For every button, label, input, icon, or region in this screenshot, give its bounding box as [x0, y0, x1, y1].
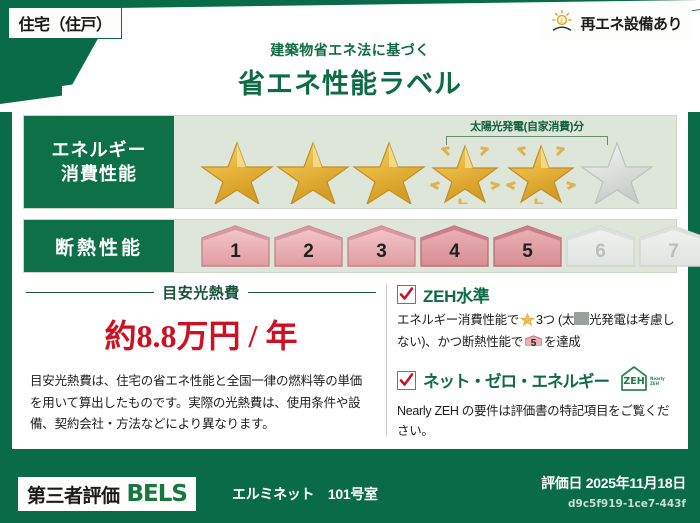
insulation-badge-inline: 5 — [525, 332, 542, 349]
claim-text-part1: エネルギー消費性能で — [397, 313, 519, 327]
claim-text-part4: を達成 — [544, 335, 581, 349]
star-icon — [200, 134, 274, 204]
star-icon — [276, 134, 350, 204]
label-title-block: 建築物省エネ法に基づく 省エネ性能ラベル — [0, 40, 700, 101]
solar-annotation-bracket — [446, 136, 608, 145]
insulation-badge-value: 1 — [200, 241, 271, 263]
energy-performance-row: エネルギー 消費性能 太陽光発電(自家消費)分 — [23, 115, 677, 209]
claim-net-zero-energy-title: ネット・ゼロ・エネルギー — [423, 368, 609, 392]
svg-text:ZEH: ZEH — [623, 376, 644, 387]
energy-label-line2: 消費性能 — [61, 162, 137, 186]
insulation-performance-row: 断熱性能 — [23, 219, 677, 273]
star-icon — [520, 315, 535, 329]
energy-performance-label-box: エネルギー 消費性能 — [24, 116, 174, 208]
insulation-badge-value: 3 — [346, 241, 417, 263]
claim-net-zero-energy-head: ネット・ゼロ・エネルギー ZEH Nearly ZEH — [397, 363, 679, 398]
insulation-badge: 2 — [273, 224, 344, 268]
insulation-badge: 5 — [492, 224, 563, 268]
certificate-uid: d9c5f919-1ce7-443f — [568, 498, 686, 510]
claim-text-part2: 3つ (太 — [536, 313, 574, 327]
insulation-badge: 4 — [419, 224, 490, 268]
building-type-tag: 住宅（住戸） — [8, 7, 122, 39]
insulation-performance-label-box: 断熱性能 — [24, 220, 174, 272]
redacted-mask — [574, 312, 589, 325]
utility-cost-description: 目安光熱費は、住宅の省エネ性能と全国一律の燃料等の単価を用いて算出したものです。… — [26, 371, 376, 436]
energy-label-line1: エネルギー — [52, 138, 147, 162]
zeh-nearly-logo-icon: ZEH Nearly ZEH — [619, 363, 667, 398]
star-icon — [352, 134, 426, 204]
insulation-rating-area: 1 2 3 — [174, 220, 676, 272]
building-name: エルミネット 101号室 — [232, 484, 378, 504]
renewable-energy-badge: E 再エネ設備あり — [542, 5, 692, 41]
insulation-badge-empty: 7 — [638, 224, 700, 268]
insulation-badge-value: 5 — [492, 241, 563, 263]
insulation-badge-value: 2 — [273, 241, 344, 263]
renewable-badge-label: 再エネ設備あり — [580, 13, 682, 34]
solar-annotation-caption: 太陽光発電(自家消費)分 — [432, 118, 622, 134]
insulation-badge-empty: 6 — [565, 224, 636, 268]
claim-zeh-standard-head: ZEH水準 — [397, 282, 679, 307]
bels-third-party-badge: 第三者評価 BELS — [18, 477, 196, 511]
insulation-badge-inline-value: 5 — [525, 336, 542, 352]
insulation-badge-value: 6 — [565, 241, 636, 263]
insulation-label: 断熱性能 — [55, 233, 143, 260]
bels-badge-en: BELS — [127, 481, 187, 507]
solar-sun-icon: E — [550, 9, 574, 38]
insulation-badge-group: 1 2 3 — [200, 224, 700, 268]
insulation-badge: 3 — [346, 224, 417, 268]
insulation-badge: 1 — [200, 224, 271, 268]
vertical-divider — [386, 284, 387, 436]
insulation-badge-value: 4 — [419, 241, 490, 263]
energy-performance-label: 住宅（住戸） E 再エネ設備あり 建築物省エネ法に基づく 省エネ性能ラベル — [0, 0, 700, 523]
claim-net-zero-energy-body: Nearly ZEH の要件は評価書の特記項目をご覧ください。 — [397, 401, 679, 442]
checkbox-checked-icon[interactable] — [397, 371, 416, 390]
utility-cost-heading: 目安光熱費 — [162, 282, 240, 303]
svg-text:E: E — [561, 18, 565, 25]
checkbox-checked-icon[interactable] — [397, 285, 416, 304]
claim-zeh-standard-title: ZEH水準 — [423, 282, 490, 307]
svg-text:ZEH: ZEH — [650, 381, 659, 386]
evaluation-date: 評価日 2025年11月18日 — [541, 473, 686, 493]
label-body-card: エネルギー 消費性能 太陽光発電(自家消費)分 — [12, 104, 688, 449]
utility-cost-value: 約8.8万円 / 年 — [26, 311, 376, 357]
solar-self-consumption-annotation: 太陽光発電(自家消費)分 — [432, 118, 622, 145]
claim-zeh-standard-body: エネルギー消費性能で3つ (太光発電は考慮しない)、かつ断熱性能で5を達成 — [397, 310, 679, 353]
claim-zeh-standard: ZEH水準 エネルギー消費性能で3つ (太光発電は考慮しない)、かつ断熱性能で5… — [397, 282, 679, 353]
bels-badge-jp: 第三者評価 — [27, 481, 120, 508]
claim-net-zero-energy: ネット・ゼロ・エネルギー ZEH Nearly ZEH Nearly ZEH の… — [397, 363, 679, 442]
label-title-sub: 建築物省エネ法に基づく — [0, 40, 700, 60]
insulation-badge-value: 7 — [638, 241, 700, 263]
energy-rating-area: 太陽光発電(自家消費)分 — [174, 116, 676, 208]
utility-cost-block: 目安光熱費 約8.8万円 / 年 目安光熱費は、住宅の省エネ性能と全国一律の燃料… — [26, 282, 376, 436]
rule-right — [248, 292, 376, 294]
utility-cost-heading-row: 目安光熱費 — [26, 282, 376, 303]
zeh-claims-block: ZEH水準 エネルギー消費性能で3つ (太光発電は考慮しない)、かつ断熱性能で5… — [397, 282, 679, 451]
rule-left — [26, 292, 154, 294]
label-title-main: 省エネ性能ラベル — [0, 62, 700, 101]
